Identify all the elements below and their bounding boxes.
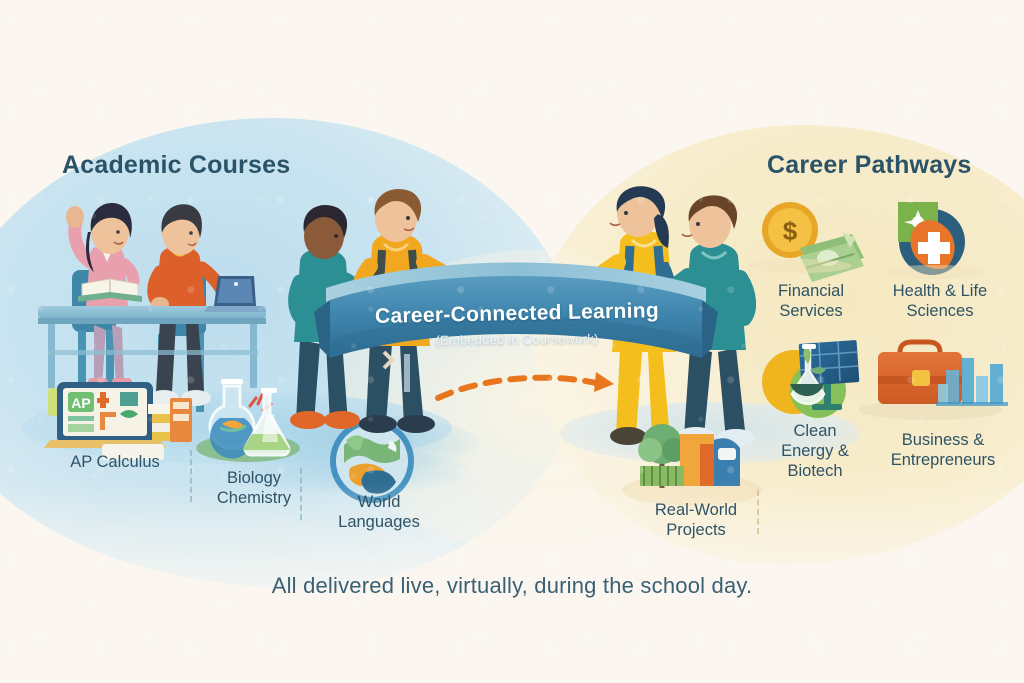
dotted-connector-1: [190, 450, 192, 502]
banner-subtitle-text: (Embedded in Coursework): [352, 330, 682, 348]
label-ap-calculus: AP Calculus: [40, 452, 190, 472]
label-biology-chemistry: Biology Chemistry: [192, 468, 316, 508]
dotted-connector-2: [300, 468, 302, 520]
label-real-world-projects: Real-World Projects: [632, 500, 760, 540]
label-clean-energy-biotech: Clean Energy & Biotech: [760, 421, 870, 481]
dotted-connector-3: [757, 490, 759, 534]
banner-main-text: Career-Connected Learning: [352, 299, 682, 330]
footer-caption: All delivered live, virtually, during th…: [0, 573, 1024, 599]
infographic-canvas: AP: [0, 0, 1024, 683]
label-world-languages: World Languages: [318, 492, 440, 532]
label-financial-services: Financial Services: [748, 281, 874, 321]
section-title-career-pathways: Career Pathways: [767, 151, 972, 180]
career-connected-learning-banner: Career-Connected Learning (Embedded in C…: [330, 262, 702, 380]
section-title-academic-courses: Academic Courses: [62, 151, 290, 180]
label-business-entrepreneurs: Business & Entrepreneurs: [872, 430, 1014, 470]
label-health-life-sciences: Health & Life Sciences: [872, 281, 1008, 321]
